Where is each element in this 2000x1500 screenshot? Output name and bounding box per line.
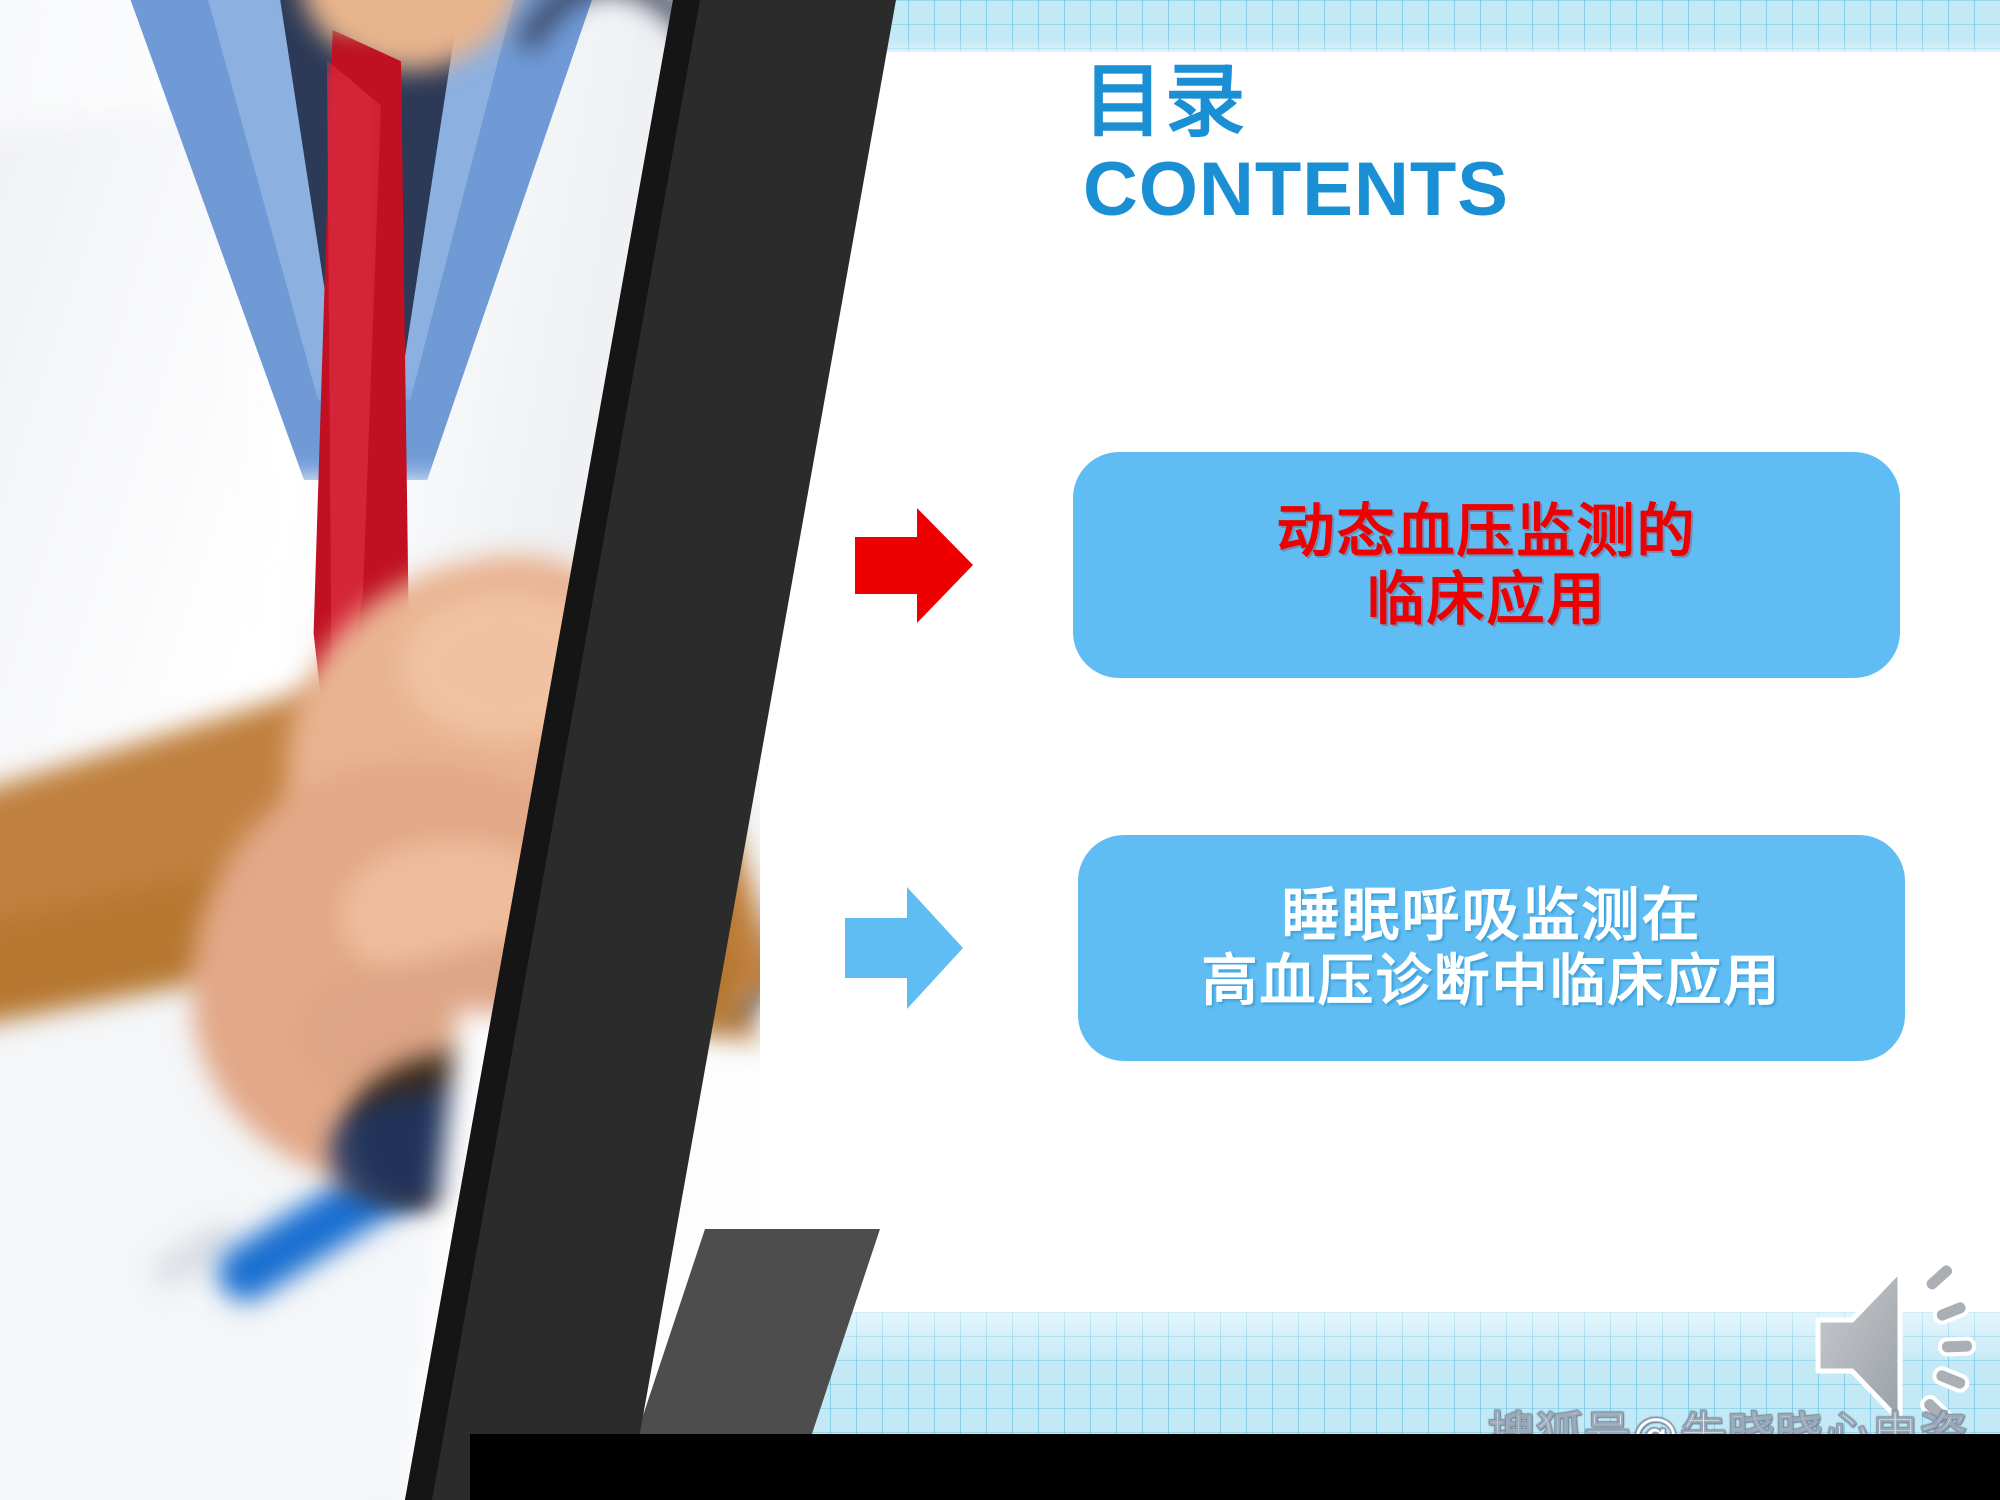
contents-item-1[interactable]: 动态血压监测的 临床应用 bbox=[855, 452, 1900, 678]
title-english: CONTENTS bbox=[1083, 150, 1509, 230]
arrow-right-icon bbox=[855, 508, 973, 623]
contents-card-1[interactable]: 动态血压监测的 临床应用 bbox=[1073, 452, 1900, 678]
arrow-right-icon bbox=[845, 887, 963, 1009]
doctor-photo bbox=[0, 0, 760, 1500]
title-chinese: 目录 bbox=[1083, 62, 1509, 142]
contents-card-2[interactable]: 睡眠呼吸监测在 高血压诊断中临床应用 bbox=[1078, 835, 1905, 1061]
card-2-line-2: 高血压诊断中临床应用 bbox=[1202, 949, 1782, 1015]
card-1-line-2: 临床应用 bbox=[1366, 565, 1606, 633]
contents-item-2[interactable]: 睡眠呼吸监测在 高血压诊断中临床应用 bbox=[845, 835, 1905, 1061]
page-title: 目录 CONTENTS bbox=[1083, 62, 1509, 230]
bottom-bar bbox=[470, 1434, 2000, 1500]
card-1-line-1: 动态血压监测的 bbox=[1276, 497, 1696, 565]
card-2-line-1: 睡眠呼吸监测在 bbox=[1281, 881, 1701, 949]
slide-canvas: 目录 CONTENTS 动态血压监测的 临床应用 睡眠呼吸监测在 高血压诊断中临… bbox=[0, 0, 2000, 1500]
